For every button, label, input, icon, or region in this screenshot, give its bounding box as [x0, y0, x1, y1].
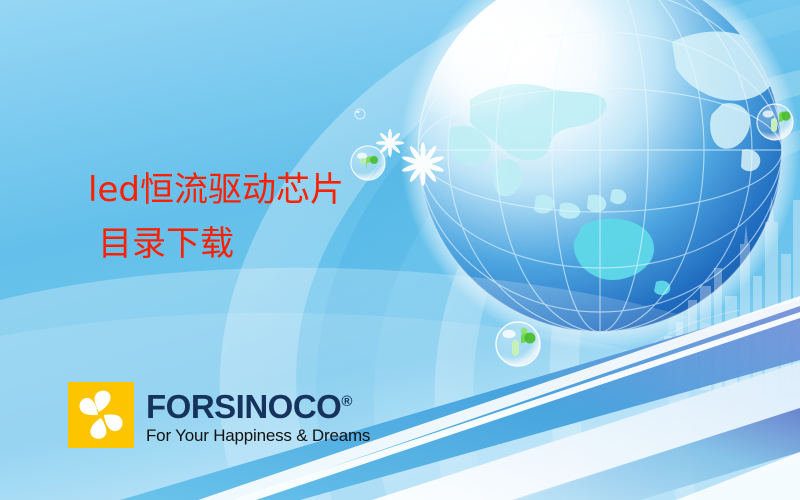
- headline-line-1: led恒流驱动芯片: [88, 170, 344, 210]
- bubble-sprout-left: [351, 146, 385, 180]
- logo-text-block: FORSINOCO® For Your Happiness & Dreams: [146, 382, 370, 446]
- bubble-tiny-top: [355, 109, 365, 119]
- bubble-sprout-center: [496, 322, 540, 366]
- product-banner: led恒流驱动芯片 目录下载 FORSINOCO® For Your Happi…: [0, 0, 800, 500]
- logo-wordmark: FORSINOCO®: [146, 384, 370, 425]
- headline-line-2: 目录下载: [88, 220, 344, 268]
- bubble-sprout-right: [757, 104, 793, 140]
- four-petal-pinwheel-icon: [68, 382, 134, 448]
- registered-trademark-icon: ®: [341, 393, 352, 410]
- flower-burst-large: [401, 142, 444, 186]
- flower-burst-small: [376, 129, 404, 157]
- company-logo[interactable]: FORSINOCO® For Your Happiness & Dreams: [68, 382, 370, 448]
- logo-wordmark-text: FORSINOCO: [146, 388, 341, 425]
- logo-tagline: For Your Happiness & Dreams: [146, 426, 370, 446]
- page-title: led恒流驱动芯片 目录下载: [88, 166, 344, 268]
